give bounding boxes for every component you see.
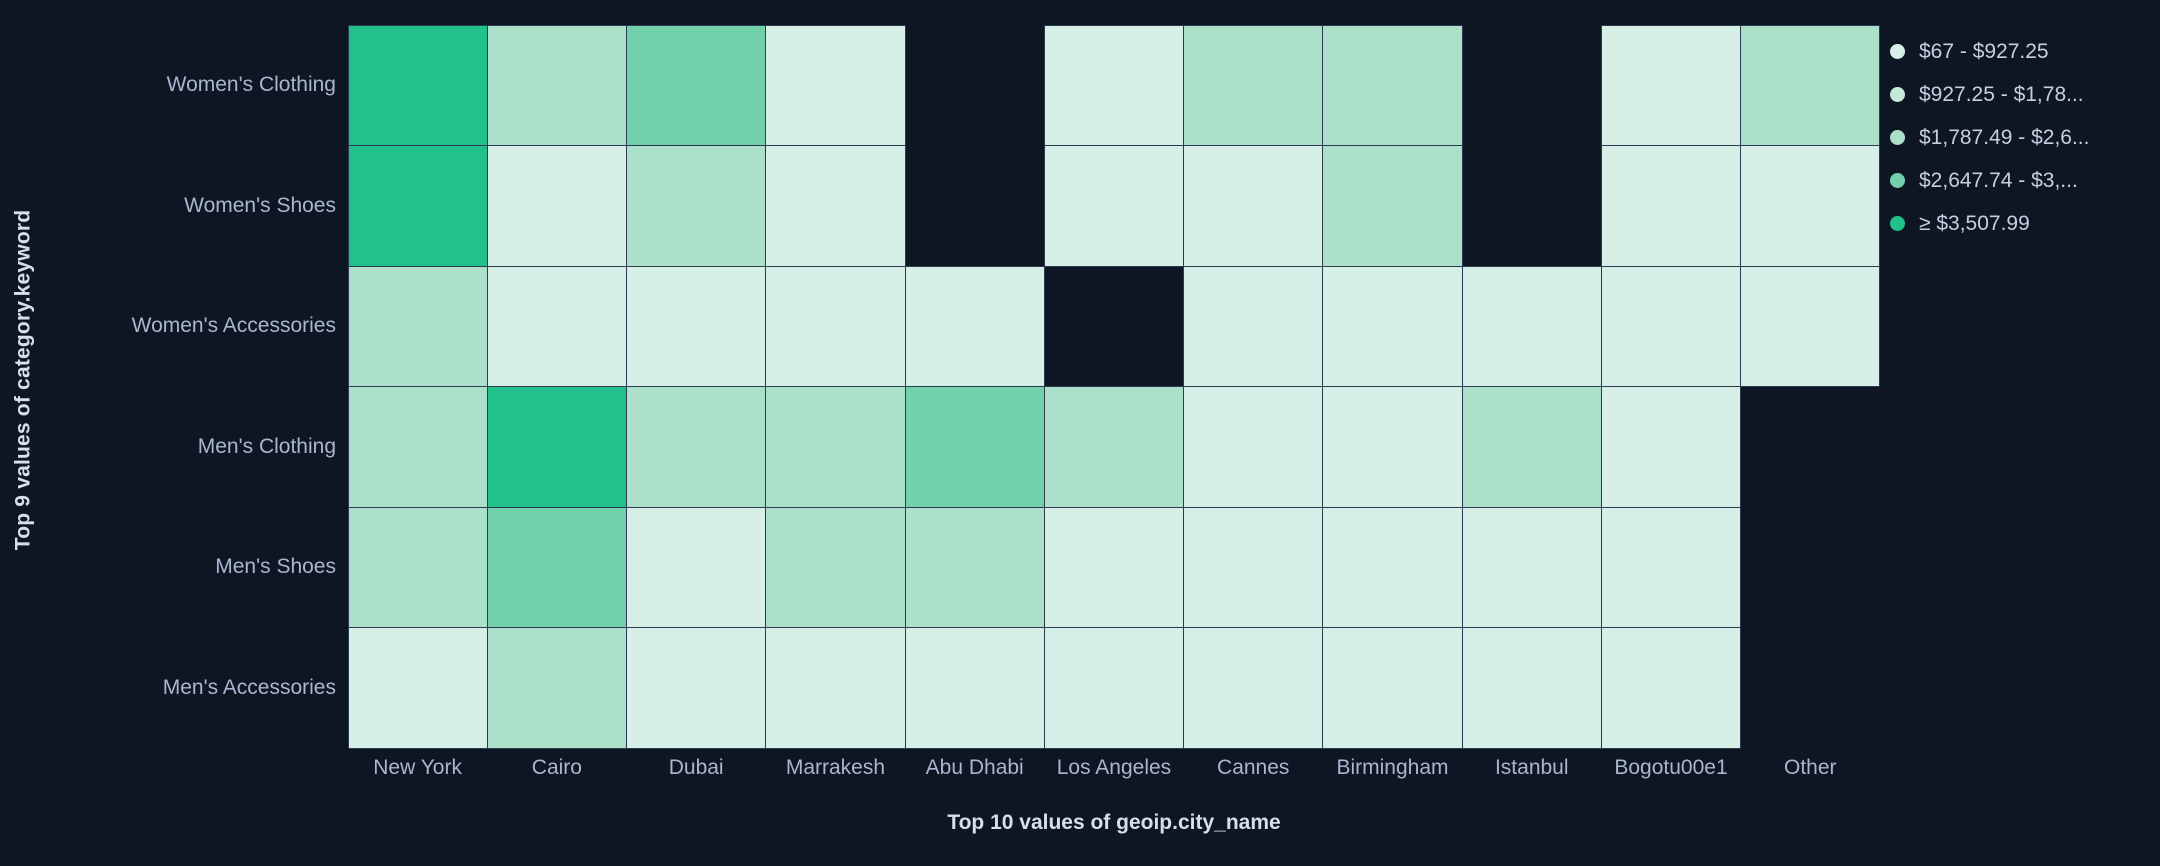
heatmap-cell[interactable] (1740, 145, 1880, 267)
heatmap-cell[interactable] (626, 266, 766, 388)
x-axis-tick-label: Los Angeles (1044, 750, 1183, 786)
heatmap-cell[interactable] (1601, 25, 1741, 147)
heatmap-cell-empty (1044, 266, 1184, 388)
heatmap-cell[interactable] (905, 266, 1045, 388)
heatmap-cell[interactable] (765, 386, 905, 508)
heatmap-cell[interactable] (765, 145, 905, 267)
heatmap-cell[interactable] (1462, 266, 1602, 388)
y-axis-tick-label: Men's Shoes (46, 507, 348, 628)
heatmap-cell[interactable] (1322, 507, 1462, 629)
legend-item-label: $2,647.74 - $3,... (1919, 169, 2078, 193)
heatmap-cell[interactable] (1322, 266, 1462, 388)
heatmap-cell[interactable] (1044, 507, 1184, 629)
y-axis-tick-label: Women's Accessories (46, 266, 348, 387)
heatmap-cell[interactable] (487, 145, 627, 267)
x-axis-tick-label: Cairo (487, 750, 626, 786)
y-axis-tick-label: Men's Accessories (46, 628, 348, 749)
heatmap-cell[interactable] (905, 627, 1045, 749)
x-axis-tick-labels: New YorkCairoDubaiMarrakeshAbu DhabiLos … (348, 750, 1880, 786)
heatmap-cell[interactable] (1322, 386, 1462, 508)
heatmap-row (348, 507, 1880, 628)
heatmap-cell-empty (905, 145, 1045, 267)
x-axis-tick-label: Marrakesh (766, 750, 905, 786)
heatmap-cell[interactable] (1601, 627, 1741, 749)
heatmap-cell[interactable] (1183, 507, 1323, 629)
heatmap-cell-empty (1462, 145, 1602, 267)
heatmap-cell[interactable] (348, 507, 488, 629)
x-axis-tick-label: Birmingham (1323, 750, 1462, 786)
legend: $67 - $927.25$927.25 - $1,78...$1,787.49… (1890, 30, 2150, 245)
x-axis-tick-label: Bogotu00e1 (1601, 750, 1740, 786)
heatmap-row (348, 146, 1880, 267)
x-axis-tick-label: Abu Dhabi (905, 750, 1044, 786)
legend-swatch-dot-icon (1890, 87, 1905, 102)
heatmap-cell[interactable] (1044, 627, 1184, 749)
heatmap-cell[interactable] (1183, 627, 1323, 749)
y-axis-tick-label: Men's Clothing (46, 387, 348, 508)
heatmap-cell[interactable] (1322, 627, 1462, 749)
heatmap-cell[interactable] (765, 507, 905, 629)
heatmap-cell[interactable] (1322, 145, 1462, 267)
legend-swatch-dot-icon (1890, 130, 1905, 145)
legend-item-label: $67 - $927.25 (1919, 40, 2049, 64)
heatmap-cell[interactable] (626, 145, 766, 267)
legend-item-label: $927.25 - $1,78... (1919, 83, 2084, 107)
heatmap-cell-empty (1740, 627, 1880, 749)
heatmap-cell[interactable] (348, 266, 488, 388)
heatmap-cell[interactable] (765, 25, 905, 147)
heatmap-cell[interactable] (905, 386, 1045, 508)
heatmap-cell[interactable] (1740, 25, 1880, 147)
heatmap-cell[interactable] (1183, 266, 1323, 388)
heatmap-cell[interactable] (626, 507, 766, 629)
heatmap-cell[interactable] (1044, 386, 1184, 508)
legend-item[interactable]: $2,647.74 - $3,... (1890, 159, 2150, 202)
heatmap-visualization-root: Top 9 values of category.keyword Women's… (0, 0, 2160, 866)
heatmap-cell[interactable] (1601, 507, 1741, 629)
legend-swatch-dot-icon (1890, 173, 1905, 188)
legend-swatch-dot-icon (1890, 44, 1905, 59)
heatmap-cell[interactable] (1462, 627, 1602, 749)
legend-item[interactable]: $1,787.49 - $2,6... (1890, 116, 2150, 159)
heatmap-cell[interactable] (487, 25, 627, 147)
heatmap-cell[interactable] (1322, 25, 1462, 147)
heatmap-cell[interactable] (1183, 145, 1323, 267)
heatmap-cell[interactable] (1601, 266, 1741, 388)
heatmap-cell[interactable] (348, 145, 488, 267)
heatmap-cell[interactable] (487, 507, 627, 629)
y-axis-title-text: Top 9 values of category.keyword (11, 210, 35, 551)
y-axis-tick-labels: Women's ClothingWomen's ShoesWomen's Acc… (46, 25, 348, 748)
heatmap-cell[interactable] (626, 627, 766, 749)
x-axis-tick-label: Dubai (627, 750, 766, 786)
heatmap-cell[interactable] (487, 386, 627, 508)
legend-item[interactable]: ≥ $3,507.99 (1890, 202, 2150, 245)
legend-item[interactable]: $67 - $927.25 (1890, 30, 2150, 73)
legend-item-label: ≥ $3,507.99 (1919, 212, 2030, 236)
heatmap-cell[interactable] (348, 25, 488, 147)
heatmap-cell[interactable] (487, 627, 627, 749)
heatmap-cell[interactable] (905, 507, 1045, 629)
heatmap-cell[interactable] (765, 627, 905, 749)
legend-item[interactable]: $927.25 - $1,78... (1890, 73, 2150, 116)
x-axis-tick-label: Istanbul (1462, 750, 1601, 786)
heatmap-row (348, 628, 1880, 749)
heatmap-row (348, 387, 1880, 508)
heatmap-cell[interactable] (1183, 25, 1323, 147)
y-axis-title: Top 9 values of category.keyword (0, 0, 46, 760)
x-axis-title: Top 10 values of geoip.city_name (348, 808, 1880, 838)
heatmap-row (348, 25, 1880, 146)
heatmap-grid (348, 25, 1880, 748)
heatmap-cell[interactable] (1740, 266, 1880, 388)
y-axis-tick-label: Women's Clothing (46, 25, 348, 146)
x-axis-tick-label: Other (1741, 750, 1880, 786)
heatmap-cell[interactable] (348, 386, 488, 508)
heatmap-cell[interactable] (626, 386, 766, 508)
heatmap-cell-empty (1740, 386, 1880, 508)
x-axis-tick-label: Cannes (1184, 750, 1323, 786)
heatmap-cell-empty (905, 25, 1045, 147)
x-axis-tick-label: New York (348, 750, 487, 786)
heatmap-cell[interactable] (1462, 386, 1602, 508)
y-axis-tick-label: Women's Shoes (46, 146, 348, 267)
heatmap-cell-empty (1740, 507, 1880, 629)
heatmap-cell[interactable] (1601, 386, 1741, 508)
legend-item-label: $1,787.49 - $2,6... (1919, 126, 2089, 150)
heatmap-cell[interactable] (348, 627, 488, 749)
heatmap-cell[interactable] (1462, 507, 1602, 629)
heatmap-cell[interactable] (487, 266, 627, 388)
heatmap-cell[interactable] (1183, 386, 1323, 508)
heatmap-cell[interactable] (1044, 145, 1184, 267)
heatmap-cell-empty (1462, 25, 1602, 147)
legend-swatch-dot-icon (1890, 216, 1905, 231)
heatmap-cell[interactable] (1044, 25, 1184, 147)
heatmap-row (348, 266, 1880, 387)
heatmap-cell[interactable] (765, 266, 905, 388)
heatmap-cell[interactable] (626, 25, 766, 147)
heatmap-cell[interactable] (1601, 145, 1741, 267)
